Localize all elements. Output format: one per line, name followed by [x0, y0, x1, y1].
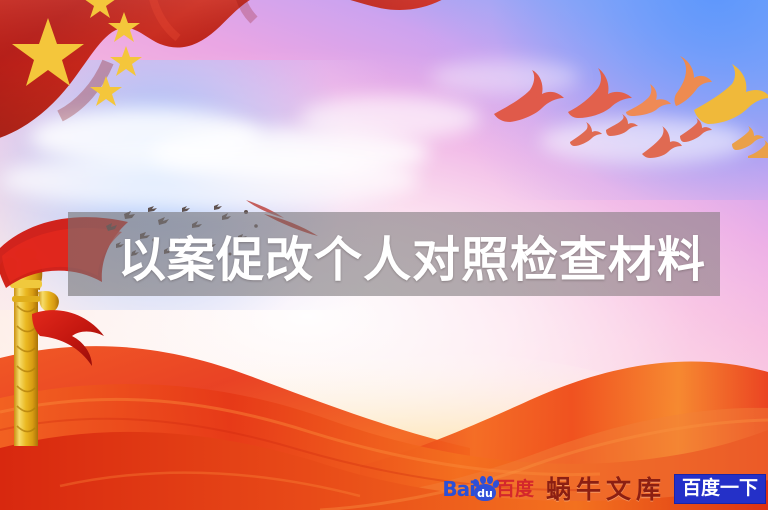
banner-image: 以案促改个人对照检查材料 Bai du 百度 蜗牛文库 百度一下 — [0, 0, 768, 510]
baidu-chinese-text: 百度 — [496, 480, 534, 499]
library-name: 蜗牛文库 — [542, 477, 666, 502]
watermark-bar: Bai du 百度 蜗牛文库 百度一下 — [442, 472, 768, 506]
baidu-latin-text: Bai — [442, 479, 475, 499]
baidu-logo: Bai du 百度 — [442, 476, 534, 502]
page-title: 以案促改个人对照检查材料 — [118, 219, 718, 291]
flying-doves — [480, 48, 768, 158]
baidu-search-button[interactable]: 百度一下 — [674, 474, 766, 505]
baidu-paw-icon: du — [472, 477, 498, 501]
baidu-paw-label: du — [474, 484, 496, 501]
chinese-national-flag — [0, 0, 460, 216]
